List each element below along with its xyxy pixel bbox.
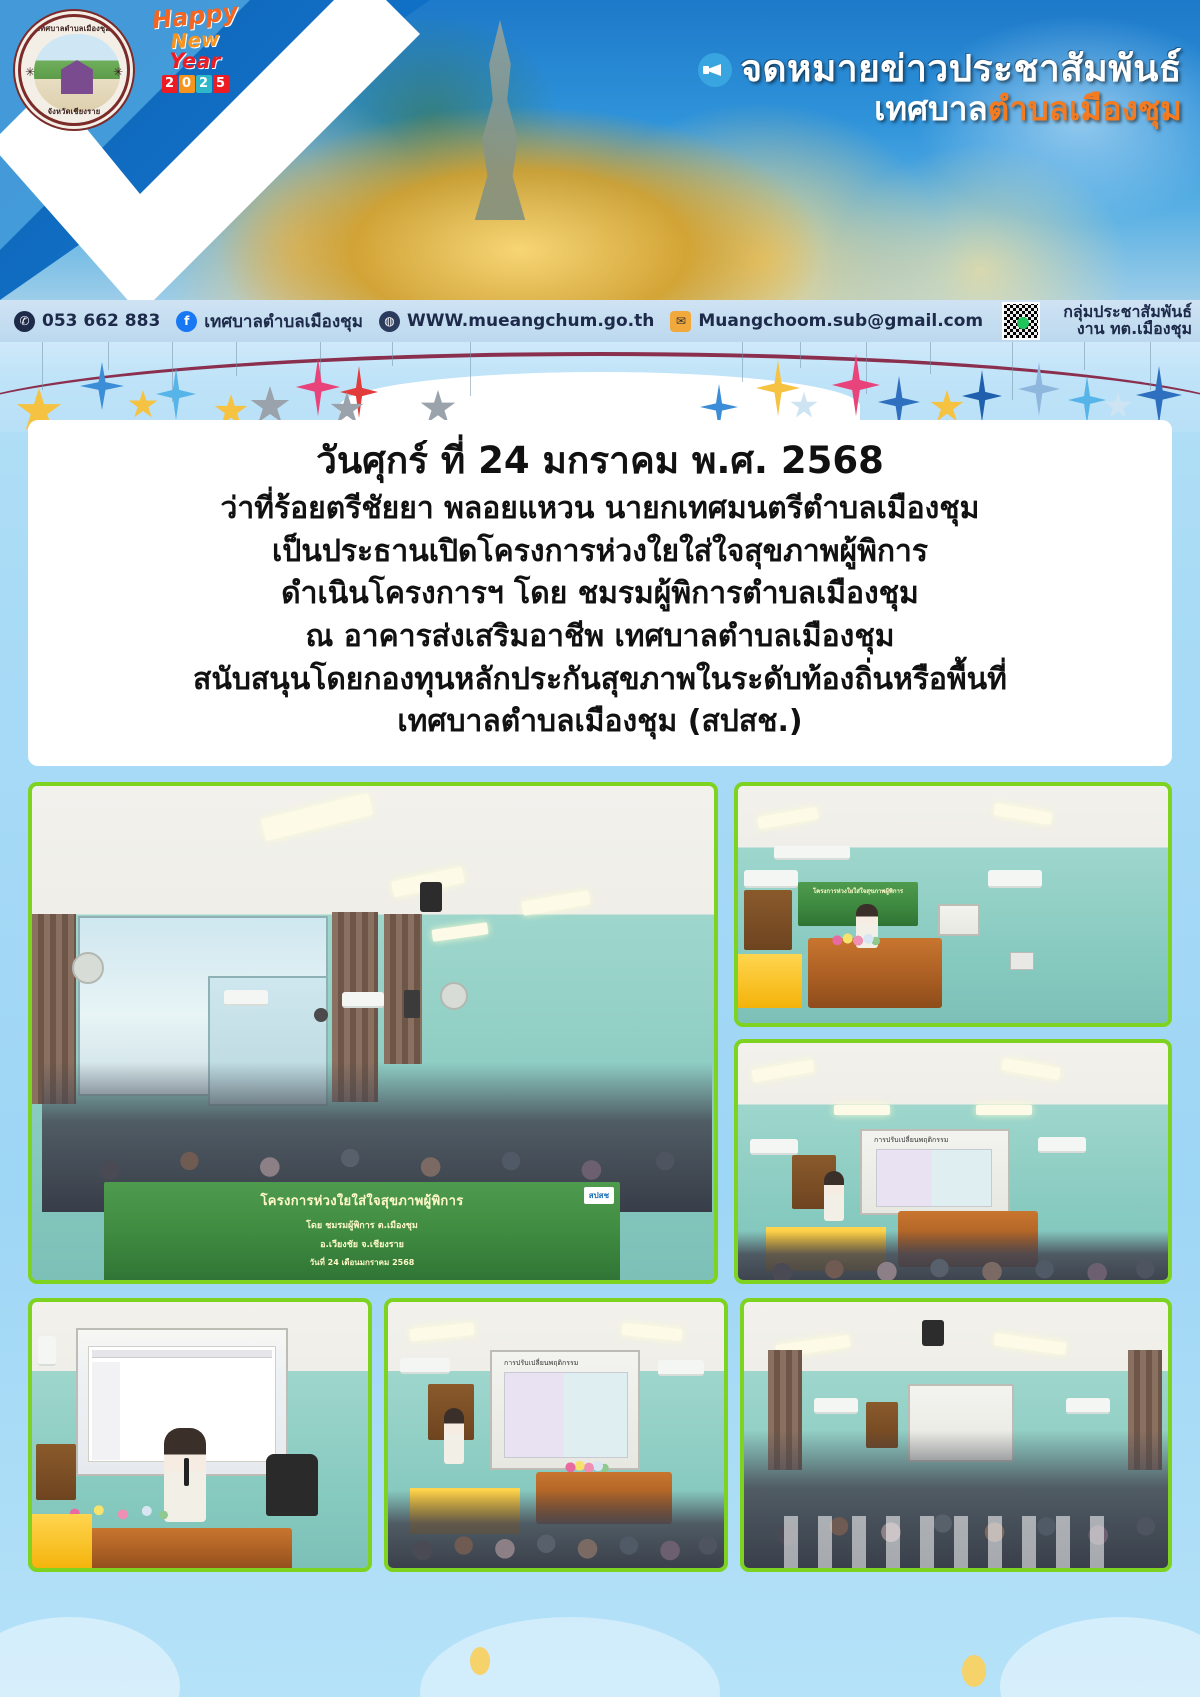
nhso-badge: สปสช [584, 1187, 614, 1204]
ceiling-light [834, 1105, 890, 1115]
globe-icon: ◍ [379, 311, 400, 332]
hny-new-text: New [140, 27, 251, 53]
wall-fan [440, 982, 468, 1010]
air-conditioner [658, 1360, 704, 1376]
contact-website[interactable]: ◍ WWW.mueangchum.go.th [379, 311, 654, 332]
header-banner: เทศบาลตำบลเมืองชุม จังหวัดเชียงราย ✳ ✳ H… [0, 0, 1200, 300]
photo-speaker-microphone[interactable] [28, 1298, 372, 1572]
ceiling-light [1001, 1058, 1060, 1080]
photo-audience[interactable] [740, 1298, 1172, 1572]
news-line-2: เป็นประธานเปิดโครงการห่วงใยใส่ใจสุขภาพผู… [50, 531, 1150, 574]
contact-phone-text: 053 662 883 [42, 311, 160, 331]
municipality-name: ตำบลเมืองชุม [988, 89, 1182, 128]
seal-bottom-label: จังหวัดเชียงราย [21, 106, 127, 118]
news-line-3: ดำเนินโครงการฯ โดย ชมรมผู้พิการตำบลเมือง… [50, 573, 1150, 616]
seal-top-label: เทศบาลตำบลเมืองชุม [21, 23, 127, 35]
banner-line-1: โครงการห่วงใยใส่ใจสุขภาพผู้พิการ [104, 1190, 620, 1211]
hny-digit: 2 [162, 75, 178, 93]
newsletter-title: จดหมายข่าวประชาสัมพันธ์ [740, 47, 1182, 90]
bottom-decoration [0, 1557, 1200, 1697]
project-banner: โครงการห่วงใยใส่ใจสุขภาพผู้พิการ โดย ชมร… [104, 1182, 620, 1284]
hanging-string [1084, 342, 1085, 370]
hny-digit: 5 [213, 75, 229, 93]
decor-blob [0, 1617, 180, 1697]
contact-phone[interactable]: ✆ 053 662 883 [14, 311, 160, 332]
contact-facebook[interactable]: f เทศบาลตำบลเมืองชุม [176, 308, 363, 335]
projector [922, 1320, 944, 1346]
table-skirt [32, 1514, 92, 1570]
contact-facebook-text: เทศบาลตำบลเมืองชุม [204, 308, 363, 335]
megaphone-icon [698, 53, 732, 87]
air-conditioner [1038, 1137, 1086, 1153]
hanging-string [392, 342, 393, 366]
air-conditioner [224, 990, 268, 1006]
news-line-5: สนับสนุนโดยกองทุนหลักประกันสุขภาพในระดับ… [50, 659, 1150, 702]
wall-clock [314, 1008, 328, 1022]
hanging-string [470, 342, 471, 396]
photo-presentation-wide[interactable]: การปรับเปลี่ยนพฤติกรรม [734, 1039, 1172, 1284]
slide-title: การปรับเปลี่ยนพฤติกรรม [504, 1358, 578, 1369]
ceiling-light [622, 1323, 683, 1341]
facebook-icon: f [176, 311, 197, 332]
news-date: วันศุกร์ ที่ 24 มกราคม พ.ศ. 2568 [50, 438, 1150, 484]
air-conditioner [750, 1139, 798, 1155]
photo-gallery: โครงการห่วงใยใส่ใจสุขภาพผู้พิการ โดย ชมร… [28, 782, 1172, 1572]
ceiling-light [751, 1060, 814, 1083]
wall-switch [38, 1336, 56, 1366]
municipality-title-row: เทศบาลตำบลเมืองชุม [698, 91, 1182, 128]
office-chair [266, 1454, 318, 1516]
ceiling-vent [774, 846, 850, 860]
hny-digit: 0 [179, 75, 195, 93]
contact-website-text: WWW.mueangchum.go.th [407, 311, 654, 331]
news-line-1: ว่าที่ร้อยตรีชัยยา พลอยแหวน นายกเทศมนตรี… [50, 488, 1150, 531]
air-conditioner [1066, 1398, 1110, 1414]
news-line-6: เทศบาลตำบลเมืองชุม (สปสช.) [50, 701, 1150, 744]
slide-chart [876, 1149, 992, 1207]
newsletter-title-row: จดหมายข่าวประชาสัมพันธ์ [698, 48, 1182, 89]
decor-blob [962, 1655, 986, 1687]
meeting-room-scene: การปรับเปลี่ยนพฤติกรรม [738, 1043, 1168, 1280]
hanging-string [108, 342, 109, 370]
banner-line-4: วันที่ 24 เดือนมกราคม 2568 [104, 1256, 620, 1269]
seal-inner-emblem [34, 34, 120, 112]
seal-star-right-icon: ✳ [113, 65, 123, 79]
news-text-card: วันศุกร์ ที่ 24 มกราคม พ.ศ. 2568 ว่าที่ร… [28, 420, 1172, 766]
air-conditioner [342, 992, 384, 1008]
meeting-room-scene [32, 1302, 368, 1568]
ceiling-light [757, 807, 818, 829]
phone-icon: ✆ [14, 311, 35, 332]
hanging-string [1150, 342, 1151, 390]
mail-icon: ✉ [670, 311, 691, 332]
ceiling-light [993, 803, 1052, 825]
hny-year-text: Year [140, 51, 250, 72]
table-skirt [738, 954, 802, 1008]
news-line-4: ณ อาคารส่งเสริมอาชีพ เทศบาลตำบลเมืองชุม [50, 616, 1150, 659]
contact-bar: ✆ 053 662 883 f เทศบาลตำบลเมืองชุม ◍ WWW… [0, 300, 1200, 342]
decor-blob [420, 1617, 720, 1697]
hny-year-digits: 2 0 2 5 [162, 75, 229, 93]
stage-banner-text: โครงการห่วงใยใส่ใจสุขภาพผู้พิการ [813, 888, 903, 895]
slide-title: การปรับเปลี่ยนพฤติกรรม [874, 1135, 948, 1146]
contact-email[interactable]: ✉ Muangchoom.sub@gmail.com [670, 311, 983, 332]
decor-blob [470, 1647, 490, 1675]
banner-line-3: อ.เวียงชัย จ.เชียงราย [104, 1237, 620, 1251]
slide-sidebar [92, 1362, 120, 1460]
air-conditioner [988, 870, 1042, 888]
hny-digit: 2 [196, 75, 212, 93]
meeting-room-scene: การปรับเปลี่ยนพฤติกรรม [388, 1302, 724, 1568]
banner-line-2: โดย ชมรมผู้พิการ ต.เมืองชุม [104, 1218, 620, 1232]
hanging-string [42, 342, 43, 390]
photo-opening-ceremony[interactable]: โครงการห่วงใยใส่ใจสุขภาพผู้พิการ [734, 782, 1172, 1027]
spirit-shrine [36, 1444, 76, 1500]
happy-new-year-graphic: Happy New Year 2 0 2 5 [140, 4, 250, 109]
hanging-string [930, 342, 931, 374]
spirit-shrine [744, 890, 792, 950]
header-title-block: จดหมายข่าวประชาสัมพันธ์ เทศบาลตำบลเมืองช… [698, 48, 1182, 128]
microphone [184, 1458, 189, 1486]
meeting-room-scene: โครงการห่วงใยใส่ใจสุขภาพผู้พิการ [738, 786, 1168, 1023]
wall-monitor [938, 904, 980, 936]
meeting-room-scene: โครงการห่วงใยใส่ใจสุขภาพผู้พิการ โดย ชมร… [32, 786, 714, 1280]
slide-toolbar [92, 1350, 272, 1358]
pr-group-label: กลุ่มประชาสัมพันธ์ งาน ทต.เมืองชุม [1063, 300, 1192, 342]
wall-speaker [404, 990, 420, 1018]
speaker-person [824, 1171, 844, 1221]
laptop [1010, 952, 1034, 970]
municipal-seal-logo: เทศบาลตำบลเมืองชุม จังหวัดเชียงราย ✳ ✳ [18, 14, 130, 126]
ceiling-light [410, 1323, 475, 1342]
qr-code-icon[interactable] [1002, 302, 1040, 340]
ceiling-light [261, 793, 373, 841]
air-conditioner [744, 870, 798, 888]
projector [420, 882, 442, 912]
contact-email-text: Muangchoom.sub@gmail.com [698, 311, 983, 331]
ceiling-light [976, 1105, 1032, 1115]
window-curtain [384, 914, 422, 1064]
speaker-person [444, 1408, 464, 1464]
meeting-room-scene [744, 1302, 1168, 1568]
crowd-of-attendees [738, 1231, 1172, 1284]
air-conditioner [814, 1398, 858, 1414]
photo-group-shot[interactable]: โครงการห่วงใยใส่ใจสุขภาพผู้พิการ โดย ชมร… [28, 782, 718, 1284]
decor-blob [1000, 1617, 1200, 1697]
slide-chart [504, 1372, 628, 1458]
hanging-string [800, 342, 801, 368]
hanging-string [1012, 342, 1013, 400]
ceiling-light [431, 922, 488, 942]
ceiling-light [994, 1333, 1067, 1355]
pr-group-line2: งาน ทต.เมืองชุม [1063, 321, 1192, 338]
hanging-string [236, 342, 237, 376]
festive-star-band [0, 342, 1200, 432]
municipality-prefix: เทศบาล [874, 89, 988, 128]
plastic-chairs [784, 1516, 1124, 1572]
ceiling-light [521, 890, 590, 916]
flower-arrangement [830, 932, 882, 950]
hanging-string [742, 342, 743, 382]
air-conditioner [400, 1358, 450, 1374]
seal-temple-icon [56, 60, 98, 94]
wall-fan [72, 952, 104, 984]
photo-slide-presentation[interactable]: การปรับเปลี่ยนพฤติกรรม [384, 1298, 728, 1572]
seal-star-left-icon: ✳ [25, 65, 35, 79]
crowd-of-attendees [388, 1490, 728, 1572]
